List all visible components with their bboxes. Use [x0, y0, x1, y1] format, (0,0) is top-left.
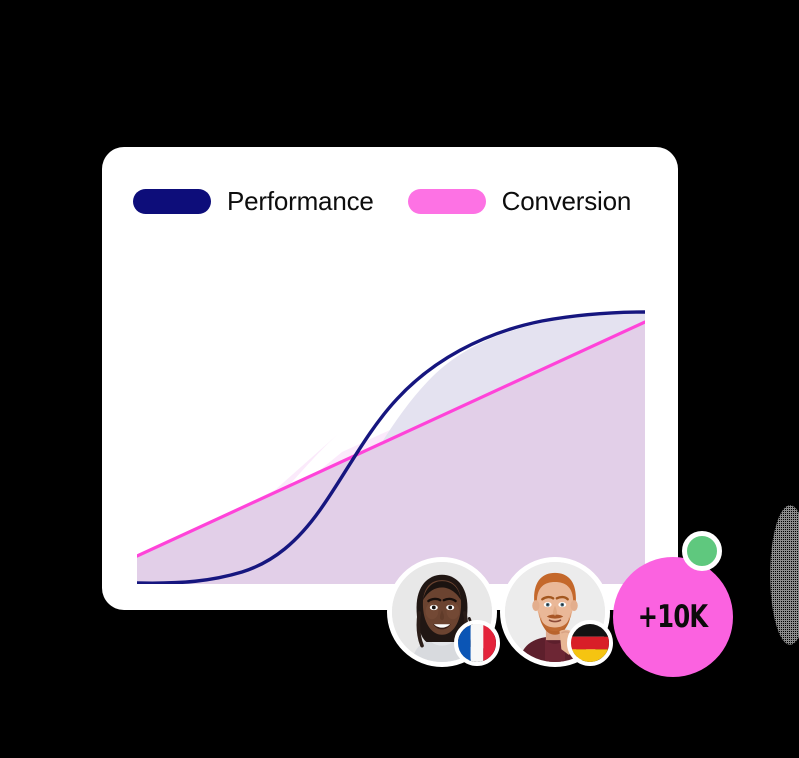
legend-item-conversion[interactable]: Conversion — [408, 188, 632, 214]
count-badge[interactable]: +10K — [613, 557, 733, 677]
screenshot-stage: Performance Conversion — [0, 0, 799, 758]
count-badge-label: +10K — [638, 599, 708, 635]
chart-legend: Performance Conversion — [133, 188, 631, 214]
status-dot-online — [682, 531, 722, 571]
legend-item-performance[interactable]: Performance — [133, 188, 374, 214]
legend-swatch-performance — [133, 189, 211, 214]
legend-label-conversion: Conversion — [502, 188, 632, 214]
germany-flag-icon — [571, 624, 609, 662]
edge-decoration-shape — [770, 505, 799, 645]
legend-label-performance: Performance — [227, 188, 374, 214]
avatar-cluster: +10K — [383, 522, 743, 702]
flag-badge-france[interactable] — [454, 620, 500, 666]
france-flag-icon — [458, 624, 496, 662]
flag-badge-germany[interactable] — [567, 620, 613, 666]
legend-swatch-conversion — [408, 189, 486, 214]
